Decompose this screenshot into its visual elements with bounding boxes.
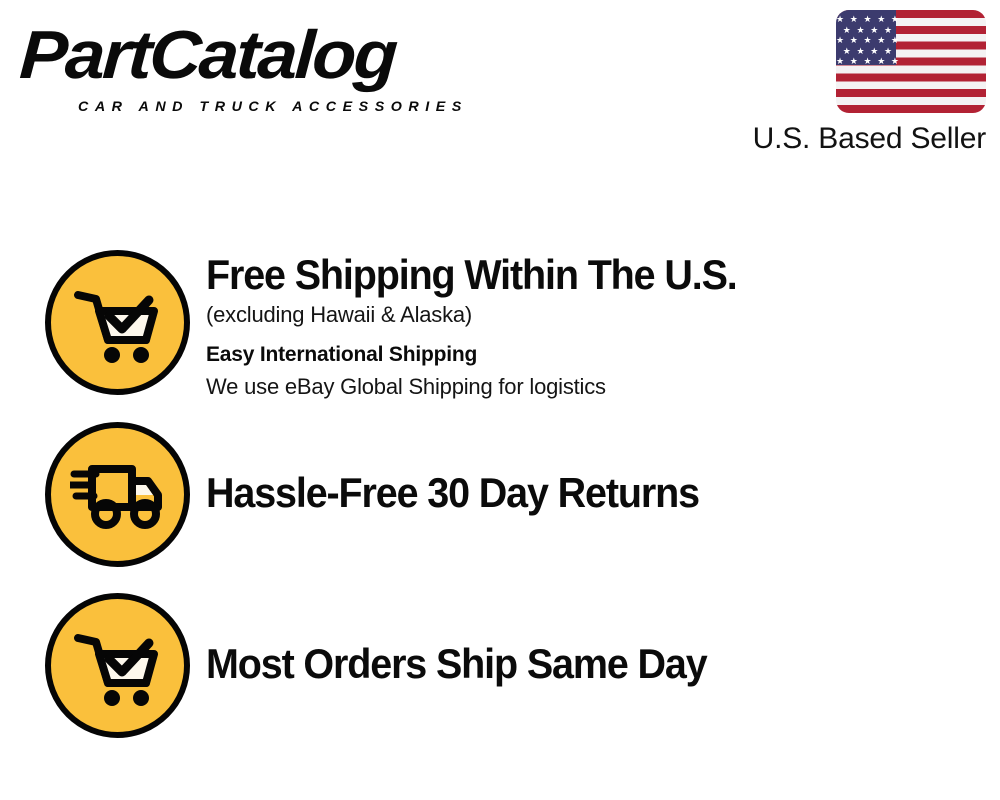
brand-wordmark: PartCatalog [18,18,397,92]
shopping-cart-check-icon [45,593,190,738]
benefit-row-free-shipping: Free Shipping Within The U.S. (excluding… [0,250,1000,402]
shopping-cart-check-icon [45,250,190,395]
flag-stars: ★ ★ ★ ★ ★ ★ ★ ★ ★ ★ ★ ★ ★ ★ ★ ★ ★ ★ ★ ★ … [836,10,896,65]
benefit-text-group: Free Shipping Within The U.S. (excluding… [206,250,1000,402]
us-flag-icon: ★ ★ ★ ★ ★ ★ ★ ★ ★ ★ ★ ★ ★ ★ ★ ★ ★ ★ ★ ★ … [836,10,986,113]
benefit-heading: Free Shipping Within The U.S. [206,252,952,298]
benefit-text-group: Most Orders Ship Same Day [206,593,1000,687]
delivery-truck-icon [45,422,190,567]
benefit-text-group: Hassle-Free 30 Day Returns [206,422,1000,516]
us-based-seller-badge: ★ ★ ★ ★ ★ ★ ★ ★ ★ ★ ★ ★ ★ ★ ★ ★ ★ ★ ★ ★ … [716,10,986,156]
benefit-row-same-day: Most Orders Ship Same Day [0,593,1000,738]
brand-tagline: CAR AND TRUCK ACCESSORIES [78,98,468,114]
benefit-heading: Most Orders Ship Same Day [206,641,952,687]
brand-logo[interactable]: PartCatalog CAR AND TRUCK ACCESSORIES [22,18,502,118]
benefit-row-returns: Hassle-Free 30 Day Returns [0,422,1000,567]
page-header: PartCatalog CAR AND TRUCK ACCESSORIES ★ … [0,0,1000,175]
us-based-seller-label: U.S. Based Seller [716,122,986,156]
benefit-subheading-international: Easy International Shipping [206,340,1000,370]
benefit-heading: Hassle-Free 30 Day Returns [206,470,952,516]
benefit-subtext-logistics: We use eBay Global Shipping for logistic… [206,372,1000,402]
benefit-subtext-exclusions: (excluding Hawaii & Alaska) [206,300,1000,330]
